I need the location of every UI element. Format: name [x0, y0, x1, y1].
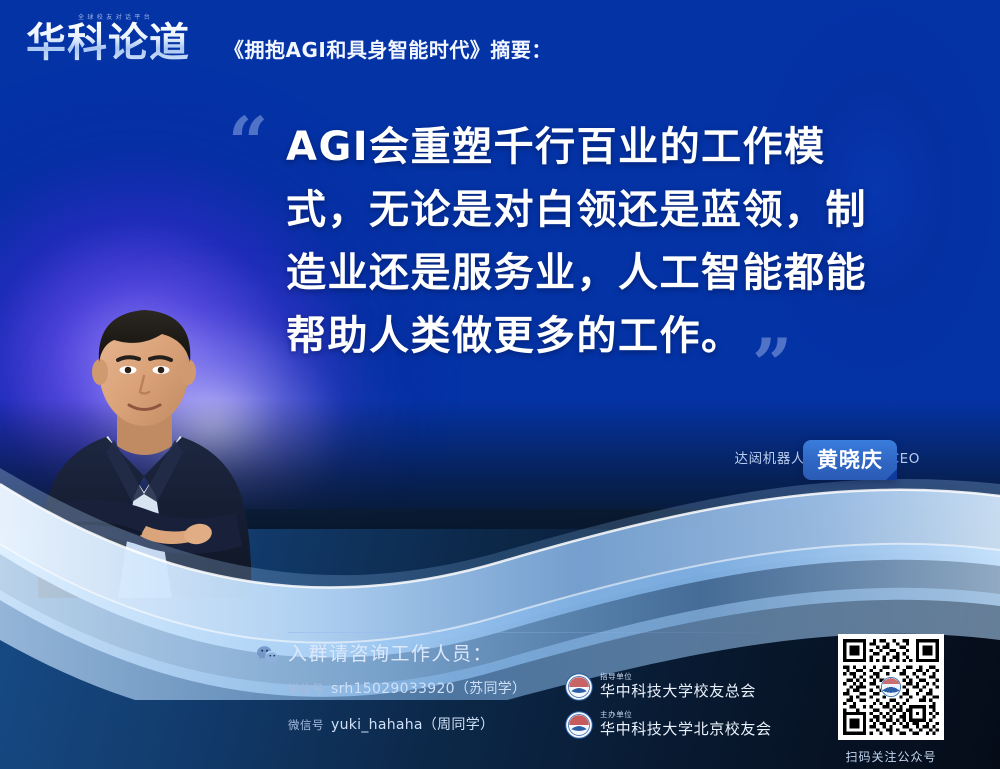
brand-logo[interactable]: 全球校友对话平台 华科论道: [26, 12, 216, 70]
organization-name: 华中科技大学校友总会: [600, 682, 756, 701]
contact-row: 微信号yuki_hahaha（周同学）: [288, 716, 494, 735]
organization-kind: 指导单位: [600, 672, 756, 682]
contact-row: 微信号srh15029033920（苏同学）: [288, 680, 526, 699]
university-seal-icon: [565, 673, 593, 701]
quote-open-mark: “: [228, 108, 268, 178]
contact-label: 微信号: [288, 682, 324, 696]
quote-line: 式，无论是对白领还是蓝领，制: [286, 179, 936, 242]
footer-heading: 入群请咨询工作人员：: [288, 642, 493, 666]
poster-root: 全球校友对话平台 华科论道 《拥抱AGI和具身智能时代》摘要：: [0, 0, 1000, 769]
wechat-icon: [256, 645, 280, 665]
page-title: 《拥抱AGI和具身智能时代》摘要：: [224, 38, 552, 62]
speaker-name-badge: 黄晓庆: [803, 440, 897, 480]
qr-code-image[interactable]: [838, 634, 944, 740]
speaker-portrait: [22, 296, 266, 598]
organization-kind: 主办单位: [600, 710, 772, 720]
organization-row: 主办单位 华中科技大学北京校友会: [565, 710, 772, 739]
organization-text: 指导单位 华中科技大学校友总会: [600, 672, 756, 701]
header: 全球校友对话平台 华科论道 《拥抱AGI和具身智能时代》摘要：: [0, 0, 1000, 92]
quote-line: AGI会重塑千行百业的工作模: [286, 116, 936, 179]
logo-wordmark: 华科论道: [26, 21, 190, 65]
organization-name: 华中科技大学北京校友会: [600, 720, 772, 739]
speaker-name: 黄晓庆: [803, 447, 897, 473]
contact-label: 微信号: [288, 718, 324, 732]
quote-text: AGI会重塑千行百业的工作模 式，无论是对白领还是蓝领，制 造业还是服务业，人工…: [286, 116, 936, 368]
quote-line: 帮助人类做更多的工作。: [286, 305, 936, 368]
contact-value[interactable]: yuki_hahaha（周同学）: [331, 717, 494, 733]
university-seal-icon: [565, 711, 593, 739]
contact-value[interactable]: srh15029033920（苏同学）: [331, 681, 526, 697]
qr-caption: 扫码关注公众号: [838, 748, 944, 765]
quote-line: 造业还是服务业，人工智能都能: [286, 242, 936, 305]
organization-text: 主办单位 华中科技大学北京校友会: [600, 710, 772, 739]
qr-code-block: 扫码关注公众号: [838, 634, 944, 765]
footer-divider: [288, 632, 780, 633]
organization-row: 指导单位 华中科技大学校友总会: [565, 672, 756, 701]
